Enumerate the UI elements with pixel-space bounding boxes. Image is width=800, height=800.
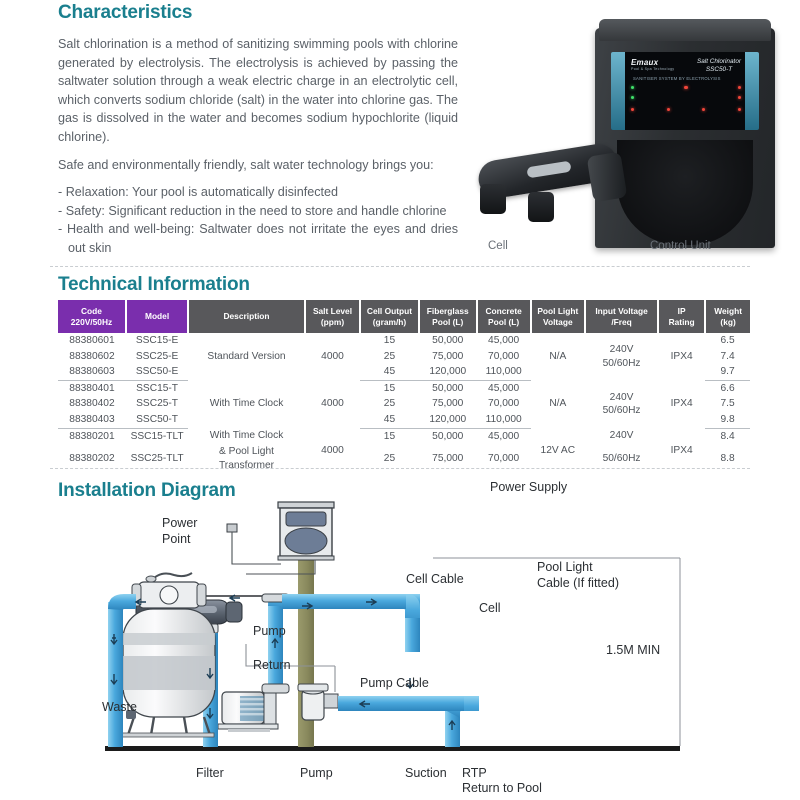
cell-weight: 9.7	[705, 364, 750, 380]
input-voltage-l2: 50/60Hz	[587, 404, 656, 418]
cell-input-voltage: 240V 50/60Hz	[585, 333, 658, 380]
pump-graphic	[218, 688, 278, 732]
panel-title: Salt Chlorinator SSC50-T	[697, 58, 741, 74]
cell-model: SSC50-E	[126, 364, 188, 380]
table-row: 88380401 SSC15-T With Time Clock 4000 15…	[58, 380, 750, 396]
divider-bottom	[50, 468, 750, 469]
cell-input-voltage: 240V	[585, 428, 658, 444]
cell-fiberglass: 75,000	[419, 396, 477, 412]
th-ip-l1: IP	[660, 306, 703, 317]
cell-image	[472, 148, 637, 228]
led-row-middle	[631, 96, 741, 99]
cell-fiberglass: 120,000	[419, 412, 477, 428]
th-cell-output: Cell Output (gram/h)	[360, 300, 419, 333]
led-row-top	[631, 86, 741, 89]
panel-subtitle: SANITISER SYSTEM BY ELECTROLYSIS	[633, 76, 741, 81]
cell-weight: 7.5	[705, 396, 750, 412]
th-iv-l2: /Freq	[587, 317, 656, 328]
cell-fiberglass: 50,000	[419, 428, 477, 444]
led-power-indicator	[631, 86, 634, 89]
th-code: Code 220V/50Hz	[58, 300, 126, 333]
datasheet-page: Characteristics Salt chlorination is a m…	[0, 0, 800, 800]
table-row: 88380601 SSC15-E Standard Version 4000 1…	[58, 333, 750, 349]
cell-weight: 6.6	[705, 380, 750, 396]
label-power-point-line2: Point	[162, 532, 191, 546]
label-rtp-line1: RTP	[462, 766, 487, 780]
benefit-item: - Relaxation: Your pool is automatically…	[58, 183, 458, 202]
divider-top	[50, 266, 750, 267]
cell-ip-rating: IPX4	[658, 380, 705, 428]
technical-table: Code 220V/50Hz Model Description Salt Le…	[58, 300, 750, 473]
th-description-l1: Description	[190, 311, 303, 322]
th-fib-l1: Fiberglass	[421, 306, 475, 317]
th-cell-l2: (gram/h)	[362, 317, 417, 328]
cell-port-left	[480, 184, 506, 214]
cell-code: 88380402	[58, 396, 126, 412]
cell-code: 88380403	[58, 412, 126, 428]
th-pool-light-voltage: Pool Light Voltage	[531, 300, 586, 333]
cell-concrete: 110,000	[477, 412, 531, 428]
cell-code: 88380601	[58, 333, 126, 349]
cell-concrete: 70,000	[477, 349, 531, 365]
table-header-row: Code 220V/50Hz Model Description Salt Le…	[58, 300, 750, 333]
label-pump: Pump	[300, 766, 333, 780]
cell-code: 88380401	[58, 380, 126, 396]
th-salt-l2: (ppm)	[307, 317, 358, 328]
cell-input-voltage: 240V 50/60Hz	[585, 380, 658, 428]
cell-weight: 7.4	[705, 349, 750, 365]
table-row: 88380201 SSC15-TLT With Time Clock 4000 …	[58, 428, 750, 444]
cell-model: SSC15-T	[126, 380, 188, 396]
led-timer-indicator	[667, 108, 670, 111]
led-service-indicator	[631, 108, 634, 111]
label-filter: Filter	[196, 766, 224, 780]
th-concrete-pool: Concrete Pool (L)	[477, 300, 531, 333]
led-lowsalt-indicator	[738, 86, 741, 89]
cell-pool-light-voltage: 12V AC	[531, 428, 586, 473]
th-fiberglass-pool: Fiberglass Pool (L)	[419, 300, 477, 333]
th-salt-level: Salt Level (ppm)	[305, 300, 360, 333]
cell-port-right	[528, 192, 554, 222]
label-return-flow: Return	[253, 658, 291, 672]
cell-ip-rating: IPX4	[658, 333, 705, 380]
control-unit-cell-bay	[617, 140, 753, 245]
th-ip-rating: IP Rating	[658, 300, 705, 333]
control-unit-lid	[599, 19, 771, 41]
cell-cell-output: 25	[360, 349, 419, 365]
cell-code: 88380602	[58, 349, 126, 365]
label-pool-light-cable-line2: Cable (If fitted)	[537, 576, 619, 590]
panel-title-text: Salt Chlorinator	[697, 58, 741, 66]
th-salt-l1: Salt Level	[307, 306, 358, 317]
control-unit-caption: Control Unit	[650, 240, 711, 252]
label-cell-cable: Cell Cable	[406, 572, 464, 586]
cell-ip-rating: IPX4	[658, 428, 705, 473]
cell-fiberglass: 75,000	[419, 349, 477, 365]
cell-pool-light-voltage: N/A	[531, 380, 586, 428]
th-input-voltage: Input Voltage /Freq	[585, 300, 658, 333]
cell-caption: Cell	[488, 240, 508, 252]
cell-salt-level: 4000	[305, 428, 360, 473]
th-wt-l2: (kg)	[707, 317, 749, 328]
cell-concrete: 70,000	[477, 396, 531, 412]
installation-diagram: Power Supply Power Point Pool Light Cabl…	[50, 478, 750, 798]
label-pool-light-cable-line1: Pool Light	[537, 560, 593, 574]
th-model-l1: Model	[128, 311, 186, 322]
cell-weight: 8.4	[705, 428, 750, 444]
cell-concrete: 110,000	[477, 364, 531, 380]
th-description: Description	[188, 300, 305, 333]
cell-fiberglass: 50,000	[419, 333, 477, 349]
cell-pool-light-voltage: N/A	[531, 333, 586, 380]
cell-cell-output: 15	[360, 428, 419, 444]
th-cell-l1: Cell Output	[362, 306, 417, 317]
cell-model: SSC15-E	[126, 333, 188, 349]
cell-cell-output: 25	[360, 396, 419, 412]
label-suction: Suction	[405, 766, 447, 780]
led-alarm-indicator	[738, 108, 741, 111]
characteristics-paragraph-1: Salt chlorination is a method of sanitiz…	[58, 35, 458, 147]
brand-tagline: Pool & Spa Technology	[631, 67, 674, 71]
cell-salt-level: 4000	[305, 380, 360, 428]
th-wt-l1: Weight	[707, 306, 749, 317]
cell-description: Standard Version	[188, 333, 305, 380]
benefits-list: - Relaxation: Your pool is automatically…	[58, 183, 458, 257]
led-chlorine-indicator	[684, 86, 687, 89]
characteristics-section: Characteristics Salt chlorination is a m…	[58, 2, 458, 258]
cell-concrete: 45,000	[477, 428, 531, 444]
label-min-distance: 1.5M MIN	[606, 643, 660, 657]
label-rtp-line2: Return to Pool	[462, 781, 542, 795]
input-voltage-l2: 50/60Hz	[587, 357, 656, 371]
cell-fiberglass: 50,000	[419, 380, 477, 396]
characteristics-title: Characteristics	[58, 2, 458, 24]
characteristics-body: Salt chlorination is a method of sanitiz…	[58, 35, 458, 258]
cell-model: SSC25-E	[126, 349, 188, 365]
benefit-item: - Health and well-being: Saltwater does …	[58, 220, 458, 257]
brand-name: Emaux	[631, 58, 658, 67]
th-plv-l1: Pool Light	[533, 306, 584, 317]
technical-information-title: Technical Information	[58, 274, 250, 296]
cell-code: 88380603	[58, 364, 126, 380]
cell-weight: 6.5	[705, 333, 750, 349]
cell-cell-output: 45	[360, 412, 419, 428]
input-voltage-l1: 240V	[587, 343, 656, 357]
label-cell: Cell	[479, 601, 501, 615]
label-waste: Waste	[102, 700, 137, 714]
cell-model: SSC15-TLT	[126, 428, 188, 444]
cell-fiberglass: 120,000	[419, 364, 477, 380]
cell-code: 88380201	[58, 428, 126, 444]
label-pump-flow: Pump	[253, 624, 286, 638]
th-con-l1: Concrete	[479, 306, 529, 317]
led-cell-indicator	[631, 96, 634, 99]
th-model: Model	[126, 300, 188, 333]
cell-model: SSC25-T	[126, 396, 188, 412]
emaux-logo: Emaux Pool & Spa Technology	[631, 58, 674, 71]
th-code-l1: Code	[59, 306, 124, 317]
cell-cell-output: 15	[360, 333, 419, 349]
led-aux-indicator	[702, 108, 705, 111]
led-flow-indicator	[738, 96, 741, 99]
cell-weight: 9.8	[705, 412, 750, 428]
label-pump-cable: Pump Cable	[360, 676, 429, 690]
th-ip-l2: Rating	[660, 317, 703, 328]
cell-cell-output: 45	[360, 364, 419, 380]
panel-model-text: SSC50-T	[697, 66, 741, 74]
th-weight: Weight (kg)	[705, 300, 750, 333]
label-power-point-line1: Power	[162, 516, 197, 530]
cell-concrete: 45,000	[477, 333, 531, 349]
cell-description: With Time Clock	[188, 380, 305, 428]
power-supply-graphic	[278, 502, 334, 560]
product-photo: Emaux Pool & Spa Technology Salt Chlorin…	[470, 8, 800, 263]
th-plv-l2: Voltage	[533, 317, 584, 328]
th-iv-l1: Input Voltage	[587, 306, 656, 317]
cell-description: With Time Clock	[188, 428, 305, 444]
characteristics-paragraph-2: Safe and environmentally friendly, salt …	[58, 156, 458, 175]
diagram-graphic	[50, 478, 750, 798]
th-con-l2: Pool (L)	[479, 317, 529, 328]
multiport-valve-graphic	[132, 573, 206, 608]
benefit-item: - Safety: Significant reduction in the n…	[58, 202, 458, 221]
technical-table-wrap: Code 220V/50Hz Model Description Salt Le…	[58, 300, 750, 473]
led-row-bottom	[631, 108, 741, 111]
cell-concrete: 45,000	[477, 380, 531, 396]
cell-model: SSC50-T	[126, 412, 188, 428]
cell-union-ring	[587, 152, 628, 203]
label-power-supply: Power Supply	[490, 480, 567, 494]
cell-salt-level: 4000	[305, 333, 360, 380]
th-code-l2: 220V/50Hz	[59, 317, 124, 328]
cell-cell-output: 15	[360, 380, 419, 396]
th-fib-l2: Pool (L)	[421, 317, 475, 328]
input-voltage-l1: 240V	[587, 391, 656, 405]
control-unit-panel: Emaux Pool & Spa Technology Salt Chlorin…	[611, 52, 759, 130]
